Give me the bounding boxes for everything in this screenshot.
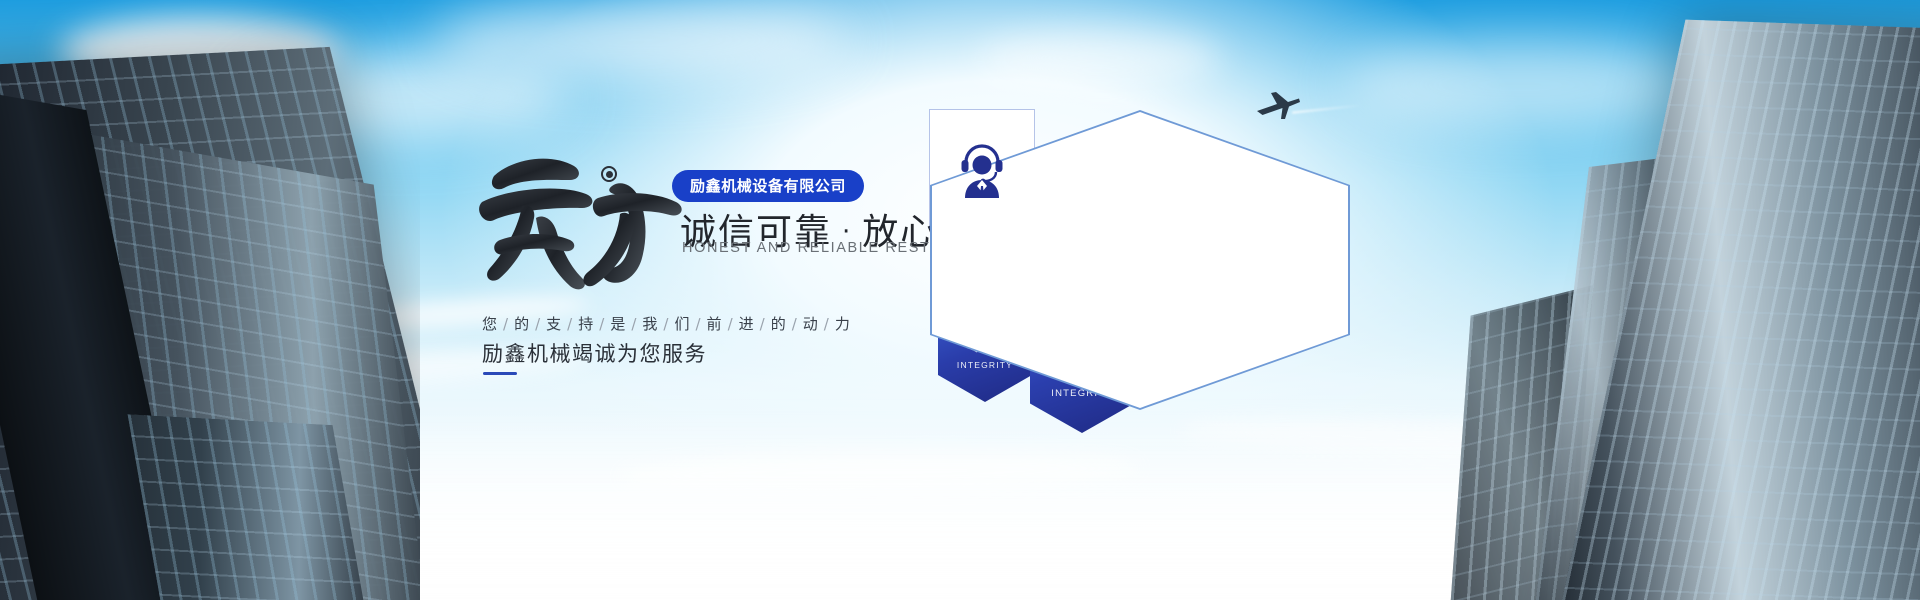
tagline-separator: / — [755, 315, 771, 333]
target-dot-icon — [601, 166, 617, 182]
calligraphy-headline — [470, 140, 700, 280]
tagline-char: 的 — [771, 315, 787, 333]
tagline-separator: / — [594, 315, 610, 333]
tagline-char: 支 — [546, 315, 562, 333]
customer-service-agent-icon — [956, 140, 1008, 198]
hexagon-avatar — [930, 110, 1034, 228]
tagline-separator: / — [530, 315, 546, 333]
tagline-separator: / — [723, 315, 739, 333]
tagline-char: 我 — [642, 315, 658, 333]
tagline-char: 前 — [707, 315, 723, 333]
tagline-separator: / — [498, 315, 514, 333]
tagline-separator: / — [690, 315, 706, 333]
tagline-char: 进 — [739, 315, 755, 333]
subline: 励鑫机械竭诚为您服务 — [482, 338, 707, 368]
tagline-char: 是 — [610, 315, 626, 333]
hero-banner: 励鑫机械设备有限公司 诚信可靠·放心选择 HONEST AND RELIABLE… — [0, 0, 1920, 600]
tagline-char: 持 — [578, 315, 594, 333]
accent-underline — [483, 372, 517, 375]
tagline: 您/的/支/持/是/我/们/前/进/的/动/力 — [482, 313, 851, 334]
tagline-separator: / — [626, 315, 642, 333]
tagline-separator: / — [787, 315, 803, 333]
tagline-separator: / — [562, 315, 578, 333]
value-hexagon-cluster: 服务 SERVICE 质量 INTEGRITY 专业 INTEGRITY 诚信 … — [930, 110, 1350, 410]
tagline-separator: / — [658, 315, 674, 333]
tagline-char: 动 — [803, 315, 819, 333]
tagline-char: 的 — [514, 315, 530, 333]
tagline-char: 力 — [835, 315, 851, 333]
tagline-separator: / — [819, 315, 835, 333]
tagline-char: 们 — [674, 315, 690, 333]
tagline-char: 您 — [482, 315, 498, 333]
company-badge: 励鑫机械设备有限公司 — [672, 170, 864, 202]
